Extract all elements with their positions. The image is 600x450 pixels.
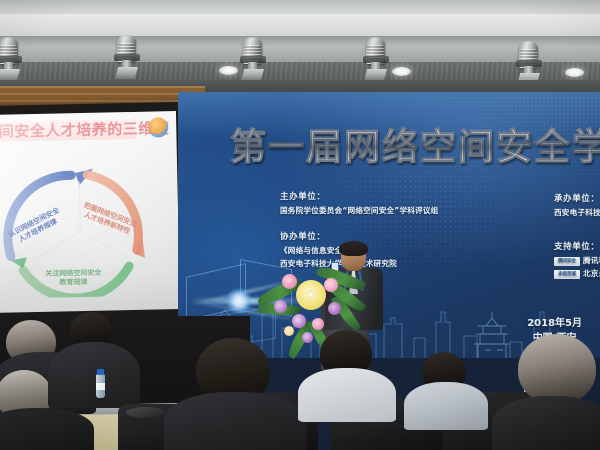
conference-photo: 网络空间安全人才培养的三维度 bbox=[0, 0, 600, 450]
banner-host-block: 承办单位： 西安电子科技大学 bbox=[554, 192, 600, 220]
ceiling-spotlight bbox=[114, 38, 140, 80]
yongxin-logo-icon: 永信至诚 bbox=[554, 270, 580, 279]
supporter-name: 北京永信至诚 bbox=[583, 269, 600, 278]
projection-screen: 网络空间安全人才培养的三维度 bbox=[0, 111, 180, 313]
audience-shoulders bbox=[492, 396, 600, 450]
projection-screen-frame: 网络空间安全人才培养的三维度 bbox=[0, 102, 184, 320]
ceiling-band bbox=[0, 36, 600, 62]
ceiling-downlight bbox=[392, 67, 411, 76]
banner-date: 2018年5月 bbox=[527, 318, 582, 329]
ceiling-downlight bbox=[219, 66, 238, 75]
banner-supporters-block: 支持单位： 腾讯安全腾讯科技 永信至诚北京永信至诚 bbox=[554, 240, 600, 281]
audience-shoulders bbox=[48, 342, 140, 408]
supporters-heading: 支持单位： bbox=[554, 240, 600, 252]
tencent-logo-icon: 腾讯安全 bbox=[554, 257, 580, 266]
supporter-name: 腾讯科技 bbox=[583, 256, 600, 265]
banner-title: 第一届网络空间安全学科 bbox=[230, 118, 600, 170]
organizer-heading: 主办单位： bbox=[280, 190, 438, 202]
supporter-item: 腾讯安全腾讯科技 bbox=[554, 255, 600, 266]
ceiling-beam-lower bbox=[0, 14, 600, 36]
water-bottle bbox=[96, 374, 105, 398]
slide-cycle-diagram: 认识网络空间安全 人才培养规律 把握网络空间安全 人才培养新特性 关注网络空间安… bbox=[0, 157, 162, 298]
host-line: 西安电子科技大学 bbox=[554, 207, 600, 218]
organizer-line: 国务院学位委员会“网络空间安全”学科评议组 bbox=[280, 205, 438, 216]
supporter-item: 永信至诚北京永信至诚 bbox=[554, 268, 600, 279]
slide-title-bar: 网络空间安全人才培养的三维度 bbox=[0, 119, 137, 143]
audience-shoulders bbox=[0, 408, 94, 450]
co-organizer-heading: 协办单位： bbox=[280, 230, 397, 242]
ceiling-spotlight bbox=[0, 40, 22, 82]
slide-title-text: 网络空间安全人才培养的三维度 bbox=[0, 119, 137, 143]
audience-shoulders bbox=[404, 382, 488, 430]
banner-organizer-block: 主办单位： 国务院学位委员会“网络空间安全”学科评议组 bbox=[280, 190, 438, 218]
ceiling-spotlight bbox=[363, 40, 389, 82]
cycle-label-bottom: 关注网络空间安全 教育规律 bbox=[45, 269, 101, 289]
ceiling-spotlight bbox=[240, 40, 266, 82]
ceiling-downlight bbox=[565, 68, 584, 77]
audience-head bbox=[518, 334, 596, 404]
audience-shoulders bbox=[164, 392, 306, 450]
ceiling-beam-upper bbox=[0, 0, 600, 14]
host-heading: 承办单位： bbox=[554, 192, 600, 204]
audience-shoulders bbox=[298, 368, 396, 422]
